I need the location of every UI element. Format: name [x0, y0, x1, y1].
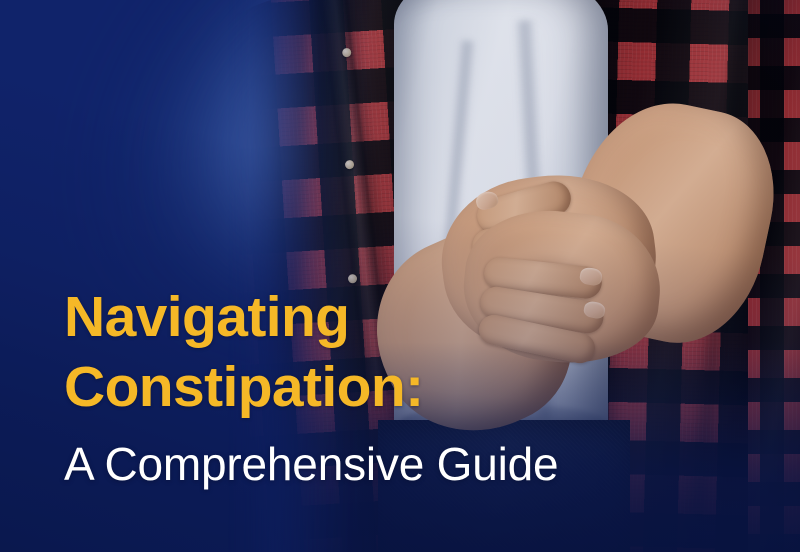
page-subtitle: A Comprehensive Guide — [64, 436, 764, 492]
page-title-line-2: Constipation: — [64, 352, 764, 422]
headline-block: Navigating Constipation: A Comprehensive… — [64, 282, 764, 492]
page-title-line-1: Navigating — [64, 282, 764, 352]
article-hero-banner: Navigating Constipation: A Comprehensive… — [0, 0, 800, 552]
